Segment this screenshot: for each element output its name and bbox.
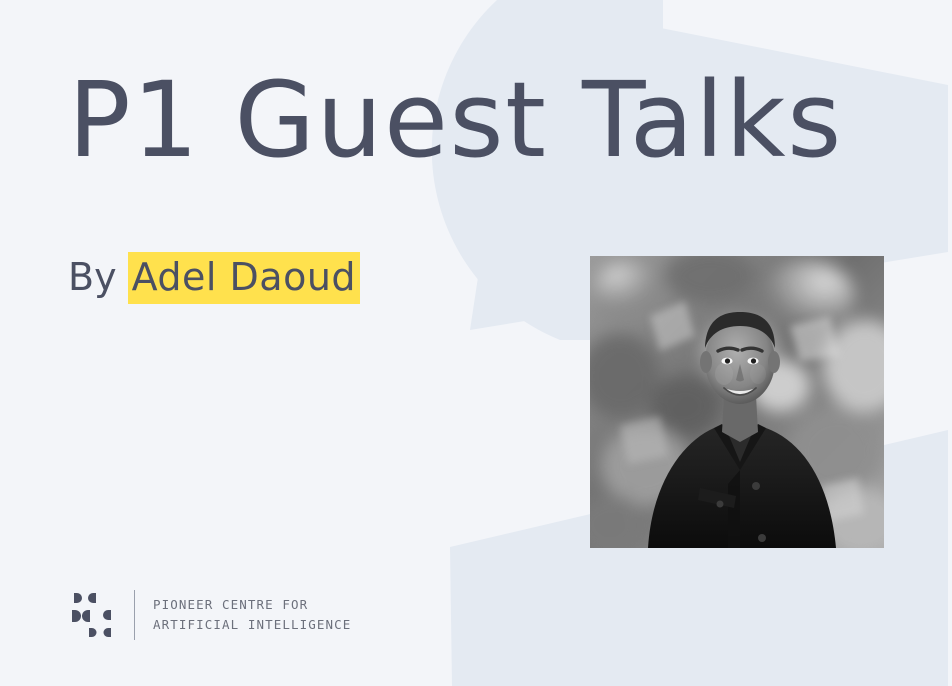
pioneer-centre-logo-icon (70, 588, 124, 642)
speaker-name-highlighted: Adel Daoud (128, 252, 360, 304)
byline-prefix: By (68, 255, 117, 299)
footer-logo-lockup: PIONEER CENTRE FOR ARTIFICIAL INTELLIGEN… (70, 588, 351, 642)
presentation-slide: P1 Guest Talks By Adel Daoud (0, 0, 952, 686)
logo-divider (134, 590, 135, 640)
page-title: P1 Guest Talks (68, 62, 843, 178)
speaker-portrait-photo (590, 256, 884, 548)
organization-line-2: ARTIFICIAL INTELLIGENCE (153, 615, 351, 635)
byline: By Adel Daoud (68, 252, 360, 304)
organization-line-1: PIONEER CENTRE FOR (153, 595, 351, 615)
organization-name: PIONEER CENTRE FOR ARTIFICIAL INTELLIGEN… (153, 595, 351, 635)
